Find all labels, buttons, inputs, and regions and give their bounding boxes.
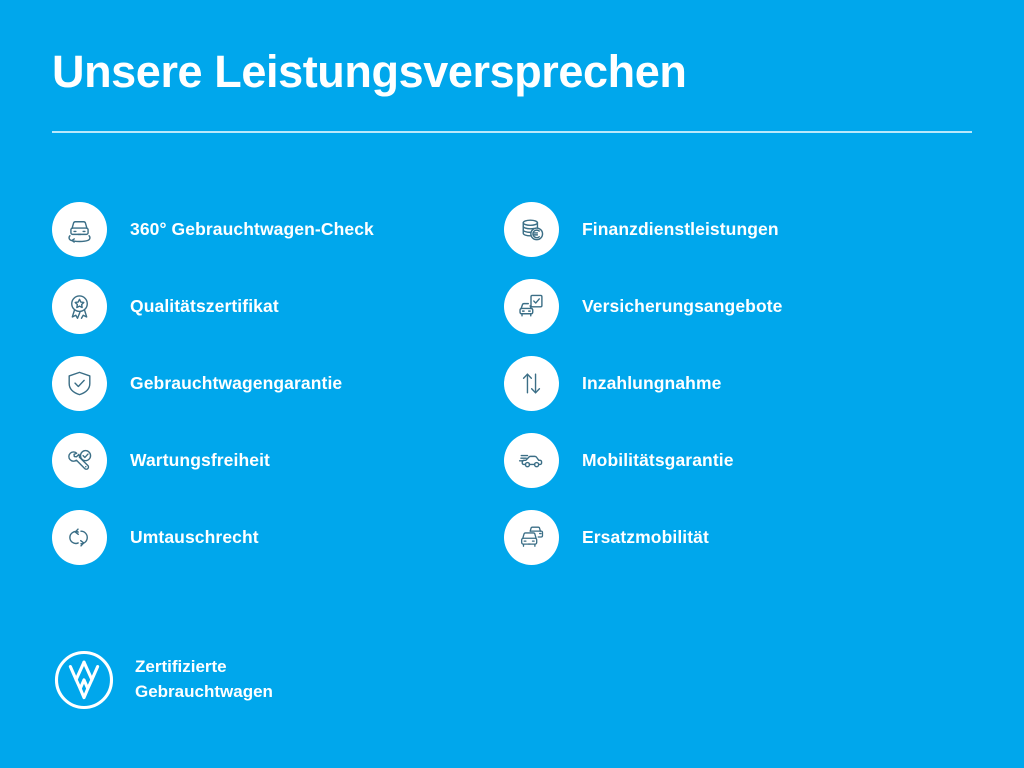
promise-item[interactable]: Umtauschrecht <box>52 506 452 568</box>
promise-item[interactable]: Mobilitätsgarantie <box>504 429 1024 491</box>
exchange-arrows-icon <box>52 510 107 565</box>
promise-item[interactable]: Finanzdienstleistungen <box>504 198 1024 260</box>
promise-item[interactable]: Inzahlungnahme <box>504 352 1024 414</box>
promise-label: Wartungsfreiheit <box>130 450 270 471</box>
volkswagen-logo-icon <box>52 648 116 712</box>
brand-line-1: Zertifizierte <box>135 655 273 680</box>
promise-label: 360° Gebrauchtwagen-Check <box>130 219 374 240</box>
promise-label: Mobilitätsgarantie <box>582 450 734 471</box>
promise-item[interactable]: Wartungsfreiheit <box>52 429 452 491</box>
up-down-arrows-icon <box>504 356 559 411</box>
promise-label: Ersatzmobilität <box>582 527 709 548</box>
promise-label: Umtauschrecht <box>130 527 259 548</box>
promises-column-right: Finanzdienstleistungen Versicherungsange… <box>452 198 1024 583</box>
award-rosette-icon <box>52 279 107 334</box>
brand-footer: Zertifizierte Gebrauchtwagen <box>52 648 273 712</box>
promise-item[interactable]: Ersatzmobilität <box>504 506 1024 568</box>
promise-label: Versicherungsangebote <box>582 296 783 317</box>
car-check-360-icon <box>52 202 107 257</box>
promises-columns: 360° Gebrauchtwagen-Check Qualitätszerti… <box>0 198 1024 583</box>
promise-label: Inzahlungnahme <box>582 373 721 394</box>
promise-label: Gebrauchtwagengarantie <box>130 373 342 394</box>
promise-item[interactable]: Versicherungsangebote <box>504 275 1024 337</box>
promise-item[interactable]: Gebrauchtwagengarantie <box>52 352 452 414</box>
car-document-check-icon <box>504 279 559 334</box>
title-divider <box>52 131 972 133</box>
coins-euro-icon <box>504 202 559 257</box>
page-title: Unsere Leistungsversprechen <box>52 48 972 95</box>
two-cars-icon <box>504 510 559 565</box>
promise-label: Qualitätszertifikat <box>130 296 279 317</box>
promises-slide: Unsere Leistungsversprechen 360° Gebrauc… <box>0 0 1024 768</box>
promise-item[interactable]: Qualitätszertifikat <box>52 275 452 337</box>
shield-check-icon <box>52 356 107 411</box>
header: Unsere Leistungsversprechen <box>52 48 972 95</box>
promise-label: Finanzdienstleistungen <box>582 219 779 240</box>
wrench-check-icon <box>52 433 107 488</box>
brand-text: Zertifizierte Gebrauchtwagen <box>135 655 273 704</box>
car-motion-icon <box>504 433 559 488</box>
promises-column-left: 360° Gebrauchtwagen-Check Qualitätszerti… <box>0 198 452 583</box>
promise-item[interactable]: 360° Gebrauchtwagen-Check <box>52 198 452 260</box>
brand-line-2: Gebrauchtwagen <box>135 680 273 705</box>
